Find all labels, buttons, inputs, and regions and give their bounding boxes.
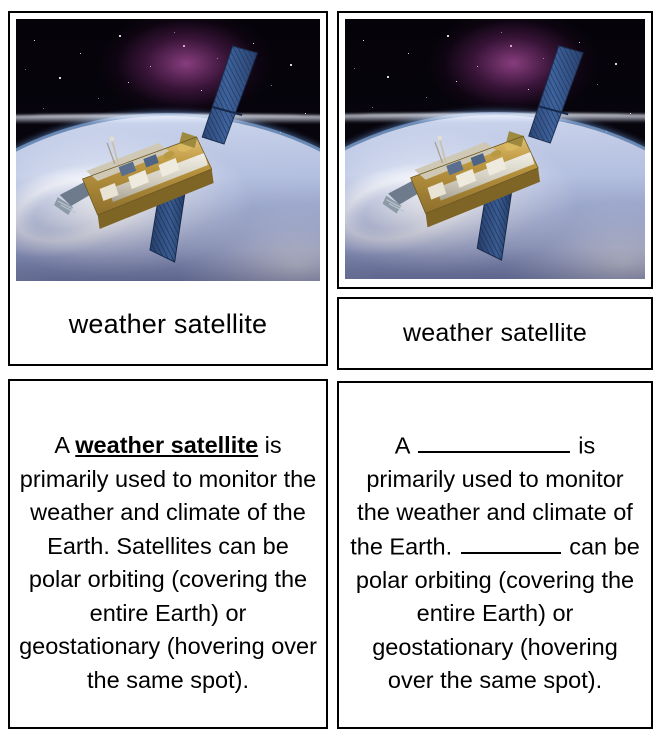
space-background: [345, 19, 645, 279]
definition-term: weather satellite: [75, 432, 258, 458]
space-background: [16, 19, 320, 281]
picture-and-label-card[interactable]: weather satellite: [8, 11, 328, 366]
blank-text-part1: A: [395, 432, 416, 458]
definition-card[interactable]: A weather satellite is primarily used to…: [8, 379, 328, 729]
satellite-photo: [16, 19, 320, 281]
blank-line-1: [418, 429, 570, 453]
solar-panel-upper: [529, 46, 583, 143]
satellite-illustration: [16, 19, 320, 281]
label-only-card[interactable]: weather satellite: [337, 297, 653, 370]
label-card-text: weather satellite: [339, 319, 651, 348]
satellite-body: [83, 132, 214, 229]
definition-blank-text: A is primarily used to monitor the weath…: [348, 429, 642, 698]
card-sheet: weather satellite: [0, 0, 661, 739]
definition-text-after: is primarily used to monitor the weather…: [19, 432, 317, 693]
satellite-photo: [345, 19, 645, 279]
picture-card-label: weather satellite: [10, 309, 326, 340]
picture-only-card[interactable]: [337, 11, 653, 289]
definition-blank-card[interactable]: A is primarily used to monitor the weath…: [337, 381, 653, 729]
satellite-body: [411, 131, 540, 227]
solar-panel-upper: [202, 46, 257, 144]
definition-text: A weather satellite is primarily used to…: [19, 429, 317, 697]
blank-line-2: [461, 530, 561, 554]
definition-text-before: A: [54, 432, 75, 458]
satellite-illustration: [345, 19, 645, 279]
